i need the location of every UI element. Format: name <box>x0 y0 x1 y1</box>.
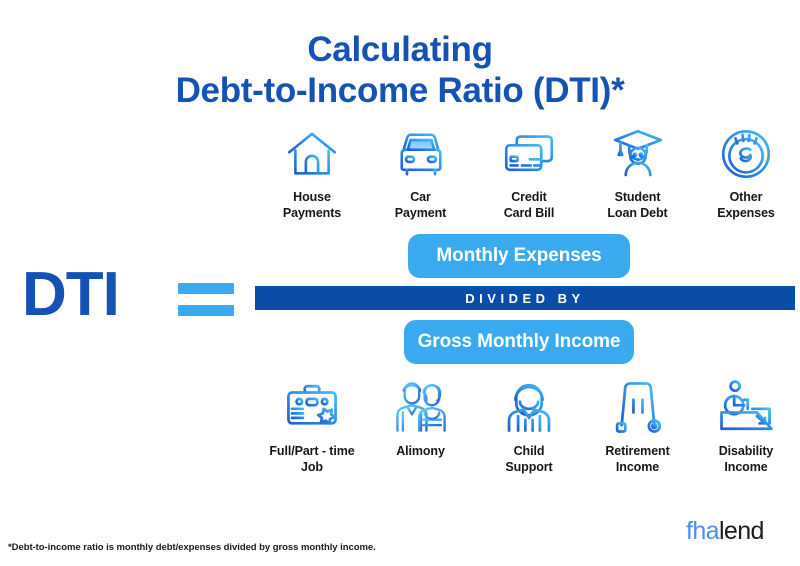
income-label-disability: Disability Income <box>719 443 774 475</box>
equals-sign-icon <box>178 283 234 316</box>
expense-label-other: Other Expenses <box>717 189 775 221</box>
expense-item-student-loan: Student Loan Debt <box>584 126 692 221</box>
footnote-text: *Debt-to-income ratio is monthly debt/ex… <box>8 542 376 553</box>
expense-item-house: House Payments <box>258 126 366 221</box>
logo-text-fha: fha <box>686 517 719 545</box>
child-icon <box>500 378 558 436</box>
income-label-alimony: Alimony <box>396 443 445 459</box>
dti-label: DTI <box>22 264 119 326</box>
income-item-disability: Disability Income <box>692 378 800 475</box>
divided-by-bar: DIVIDED BY <box>255 286 795 310</box>
numerator-pill: Monthly Expenses <box>408 234 630 278</box>
denominator-pill: Gross Monthly Income <box>404 320 634 364</box>
expenses-icon-row: House Payments Car Payment <box>258 126 800 221</box>
wheelchair-ramp-icon <box>717 378 775 436</box>
title-line-1: Calculating <box>0 30 800 71</box>
income-item-alimony: Alimony <box>367 378 475 459</box>
income-label-job: Full/Part - time Job <box>269 443 354 475</box>
income-item-child-support: Child Support <box>475 378 583 475</box>
expense-item-car: Car Payment <box>367 126 475 221</box>
graduate-icon <box>610 126 666 182</box>
equals-bar-top <box>178 283 234 294</box>
couple-icon <box>392 378 450 436</box>
coin-dollar-icon <box>718 126 774 182</box>
income-item-retirement: Retirement Income <box>584 378 692 475</box>
expense-label-house: House Payments <box>283 189 341 221</box>
car-icon <box>393 126 449 182</box>
briefcase-icon <box>283 378 341 436</box>
page-title: Calculating Debt-to-Income Ratio (DTI)* <box>0 30 800 111</box>
expense-item-other: Other Expenses <box>692 126 800 221</box>
income-icon-row: Full/Part - time Job Alimony <box>258 378 800 475</box>
expense-label-credit-card: Credit Card Bill <box>504 189 555 221</box>
fhalend-logo: fhalend <box>686 519 764 544</box>
expense-label-car: Car Payment <box>395 189 446 221</box>
expense-item-credit-card: Credit Card Bill <box>475 126 583 221</box>
credit-card-icon <box>501 126 557 182</box>
expense-label-student-loan: Student Loan Debt <box>607 189 667 221</box>
walker-icon <box>609 378 667 436</box>
income-label-retirement: Retirement Income <box>605 443 669 475</box>
logo-text-lend: lend <box>719 517 764 545</box>
house-icon <box>284 126 340 182</box>
income-label-child-support: Child Support <box>505 443 552 475</box>
equals-bar-bottom <box>178 305 234 316</box>
title-line-2: Debt-to-Income Ratio (DTI)* <box>0 71 800 112</box>
income-item-job: Full/Part - time Job <box>258 378 366 475</box>
divided-by-label: DIVIDED BY <box>465 291 584 306</box>
